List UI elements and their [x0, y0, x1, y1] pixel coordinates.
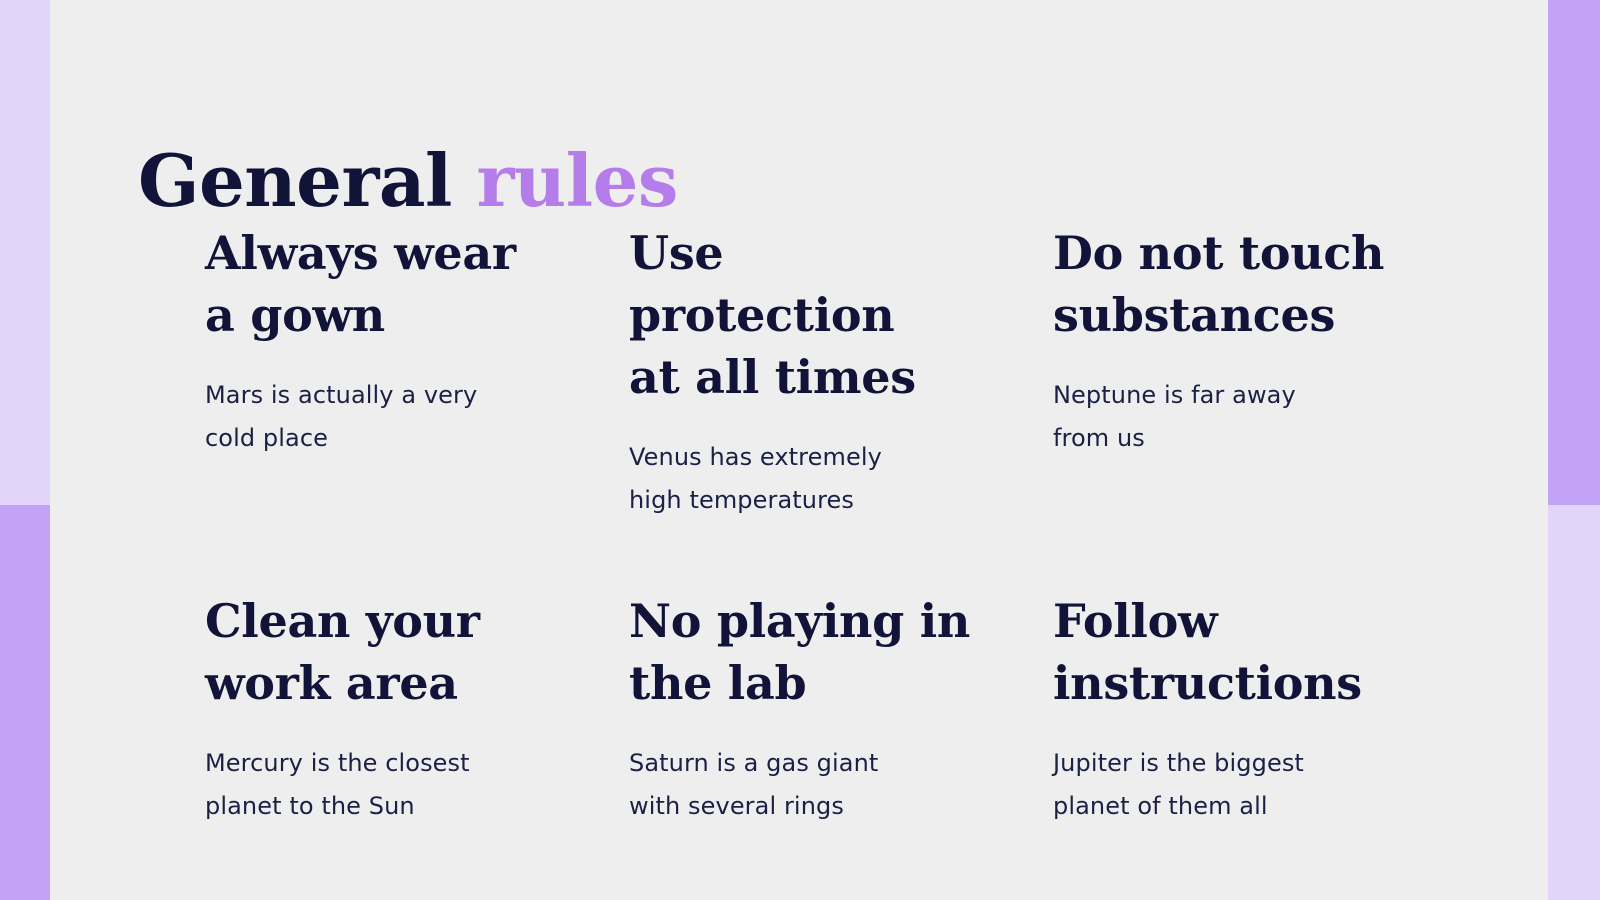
- rule-title: Always wear a gown: [205, 222, 565, 346]
- rule-title: Clean your work area: [205, 590, 565, 714]
- page-title-spacer: [452, 138, 477, 223]
- rule-card: No playing in the lab Saturn is a gas gi…: [629, 590, 989, 828]
- rule-description: Neptune is far away from us: [1053, 374, 1413, 460]
- rule-card: Always wear a gown Mars is actually a ve…: [205, 222, 565, 522]
- rule-title: Use protection at all times: [629, 222, 989, 408]
- rules-grid: Always wear a gown Mars is actually a ve…: [205, 222, 1550, 828]
- rule-description: Mercury is the closest planet to the Sun: [205, 742, 565, 828]
- rule-title: Follow instructions: [1053, 590, 1413, 714]
- right-bar-top-segment: [1548, 0, 1600, 505]
- rule-card: Clean your work area Mercury is the clos…: [205, 590, 565, 828]
- page-title-accent: rules: [476, 138, 677, 223]
- page-title: General rules: [138, 138, 1338, 224]
- rule-title: No playing in the lab: [629, 590, 989, 714]
- page-title-main: General: [138, 138, 452, 223]
- rule-card: Follow instructions Jupiter is the bigge…: [1053, 590, 1413, 828]
- slide-canvas: General rules Always wear a gown Mars is…: [0, 0, 1600, 900]
- rule-description: Mars is actually a very cold place: [205, 374, 565, 460]
- left-decorative-bar: [0, 0, 50, 900]
- right-decorative-bar: [1548, 0, 1600, 900]
- rule-title: Do not touch substances: [1053, 222, 1413, 346]
- left-bar-top-segment: [0, 0, 50, 505]
- rule-description: Jupiter is the biggest planet of them al…: [1053, 742, 1413, 828]
- left-bar-bottom-segment: [0, 505, 50, 900]
- rule-card: Use protection at all times Venus has ex…: [629, 222, 989, 522]
- right-bar-bottom-segment: [1548, 505, 1600, 900]
- rule-card: Do not touch substances Neptune is far a…: [1053, 222, 1413, 522]
- rule-description: Venus has extremely high temperatures: [629, 436, 989, 522]
- rule-description: Saturn is a gas giant with several rings: [629, 742, 989, 828]
